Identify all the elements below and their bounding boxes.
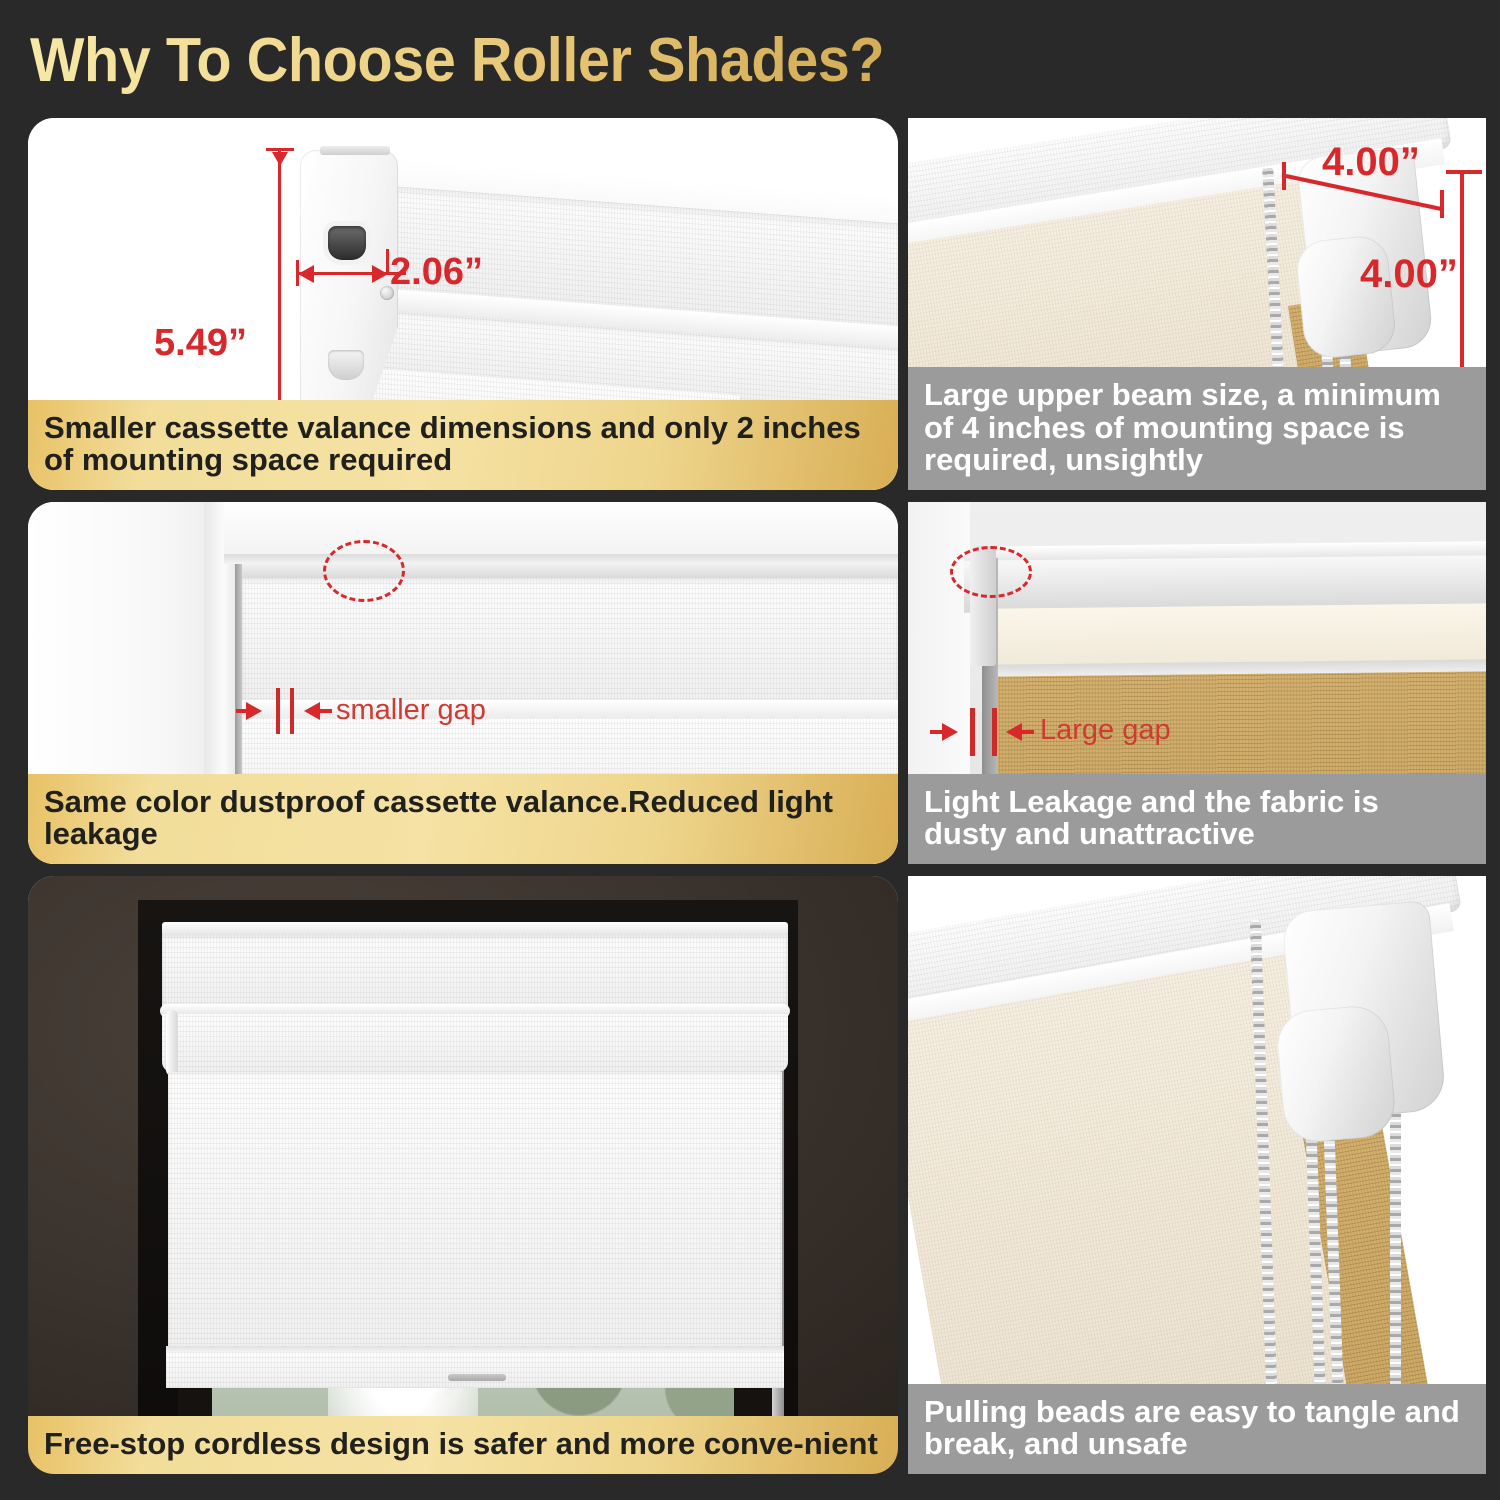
panel-4-caption-text: Light Leakage and the fabric is dusty an… bbox=[924, 784, 1379, 851]
height-dimension-line bbox=[1460, 170, 1464, 392]
panel-4: Large gap Light Leakage and the fabric i… bbox=[908, 502, 1486, 864]
width-dimension-label: 4.00” bbox=[1322, 140, 1420, 185]
panel-2-caption-text: Large upper beam size, a minimum of 4 in… bbox=[924, 377, 1441, 476]
panel-2-caption: Large upper beam size, a minimum of 4 in… bbox=[908, 367, 1486, 490]
gap-tick-2 bbox=[290, 688, 294, 734]
gap-arrow-right bbox=[1006, 723, 1022, 741]
gap-label: smaller gap bbox=[336, 694, 486, 727]
panel-3: smaller gap Same color dustproof cassett… bbox=[28, 502, 898, 864]
gap-tick-1 bbox=[970, 708, 975, 756]
panel-6-caption-text: Pulling beads are easy to tangle and bre… bbox=[924, 1394, 1460, 1461]
panel-1-caption: Smaller cassette valance dimensions and … bbox=[28, 400, 898, 490]
panel-5-caption: Free-stop cordless design is safer and m… bbox=[28, 1416, 898, 1474]
infographic-root: Why To Choose Roller Shades? bbox=[0, 0, 1500, 1500]
panel-1: 5.49” 2.06” Smaller cassette valance dim… bbox=[28, 118, 898, 490]
gap-label: Large gap bbox=[1040, 714, 1171, 747]
panel-3-caption: Same color dustproof cassette valance.Re… bbox=[28, 774, 898, 864]
panel-6: ↷ ↷ Pulling beads are easy to tangle and… bbox=[908, 876, 1486, 1474]
panel-5-caption-text: Free-stop cordless design is safer and m… bbox=[44, 1426, 878, 1461]
panel-4-caption: Light Leakage and the fabric is dusty an… bbox=[908, 774, 1486, 864]
panel-2: ↷ ↷ 4.00” 4.00” Large upper beam size, a… bbox=[908, 118, 1486, 490]
gap-arrow-left bbox=[942, 723, 958, 741]
gap-tick-1 bbox=[276, 688, 280, 734]
panel-3-caption-text: Same color dustproof cassette valance.Re… bbox=[44, 784, 833, 851]
highlight-circle bbox=[950, 546, 1032, 598]
height-dimension-label: 5.49” bbox=[154, 322, 247, 365]
gap-arrow-right bbox=[304, 702, 320, 720]
panel-1-caption-text: Smaller cassette valance dimensions and … bbox=[44, 410, 861, 477]
panel-6-caption: Pulling beads are easy to tangle and bre… bbox=[908, 1384, 1486, 1474]
panel-5-image bbox=[28, 876, 898, 1474]
bead-chain-4 bbox=[1390, 1098, 1401, 1392]
height-dimension-line bbox=[278, 148, 281, 438]
panel-5: Free-stop cordless design is safer and m… bbox=[28, 876, 898, 1474]
highlight-circle bbox=[323, 540, 405, 602]
gap-tick-2 bbox=[992, 708, 997, 756]
height-dimension-label: 4.00” bbox=[1360, 252, 1458, 297]
page-title: Why To Choose Roller Shades? bbox=[30, 24, 1053, 98]
width-dimension-label: 2.06” bbox=[390, 251, 483, 294]
